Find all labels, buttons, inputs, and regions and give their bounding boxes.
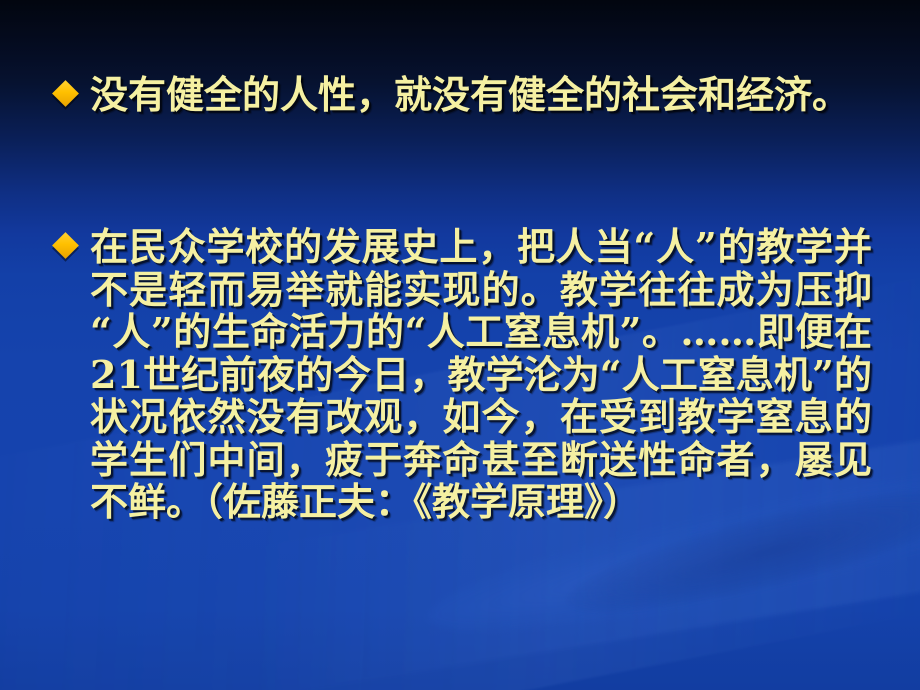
diamond-bullet-icon [52,80,79,107]
bullet-item-2: 在民众学校的发展史上，把人当“人”的教学并不是轻而易举就能实现的。教学往往成为压… [56,226,872,524]
diamond-bullet-icon [52,232,79,259]
bullet-item-1-text: 没有健全的人性，就没有健全的社会和经济。 [90,74,872,117]
bullet-item-2-text: 在民众学校的发展史上，把人当“人”的教学并不是轻而易举就能实现的。教学往往成为压… [90,226,872,524]
bullet-item-1: 没有健全的人性，就没有健全的社会和经济。 [56,74,872,117]
slide-content: 没有健全的人性，就没有健全的社会和经济。 在民众学校的发展史上，把人当“人”的教… [0,0,920,690]
slide-canvas: 没有健全的人性，就没有健全的社会和经济。 在民众学校的发展史上，把人当“人”的教… [0,0,920,690]
